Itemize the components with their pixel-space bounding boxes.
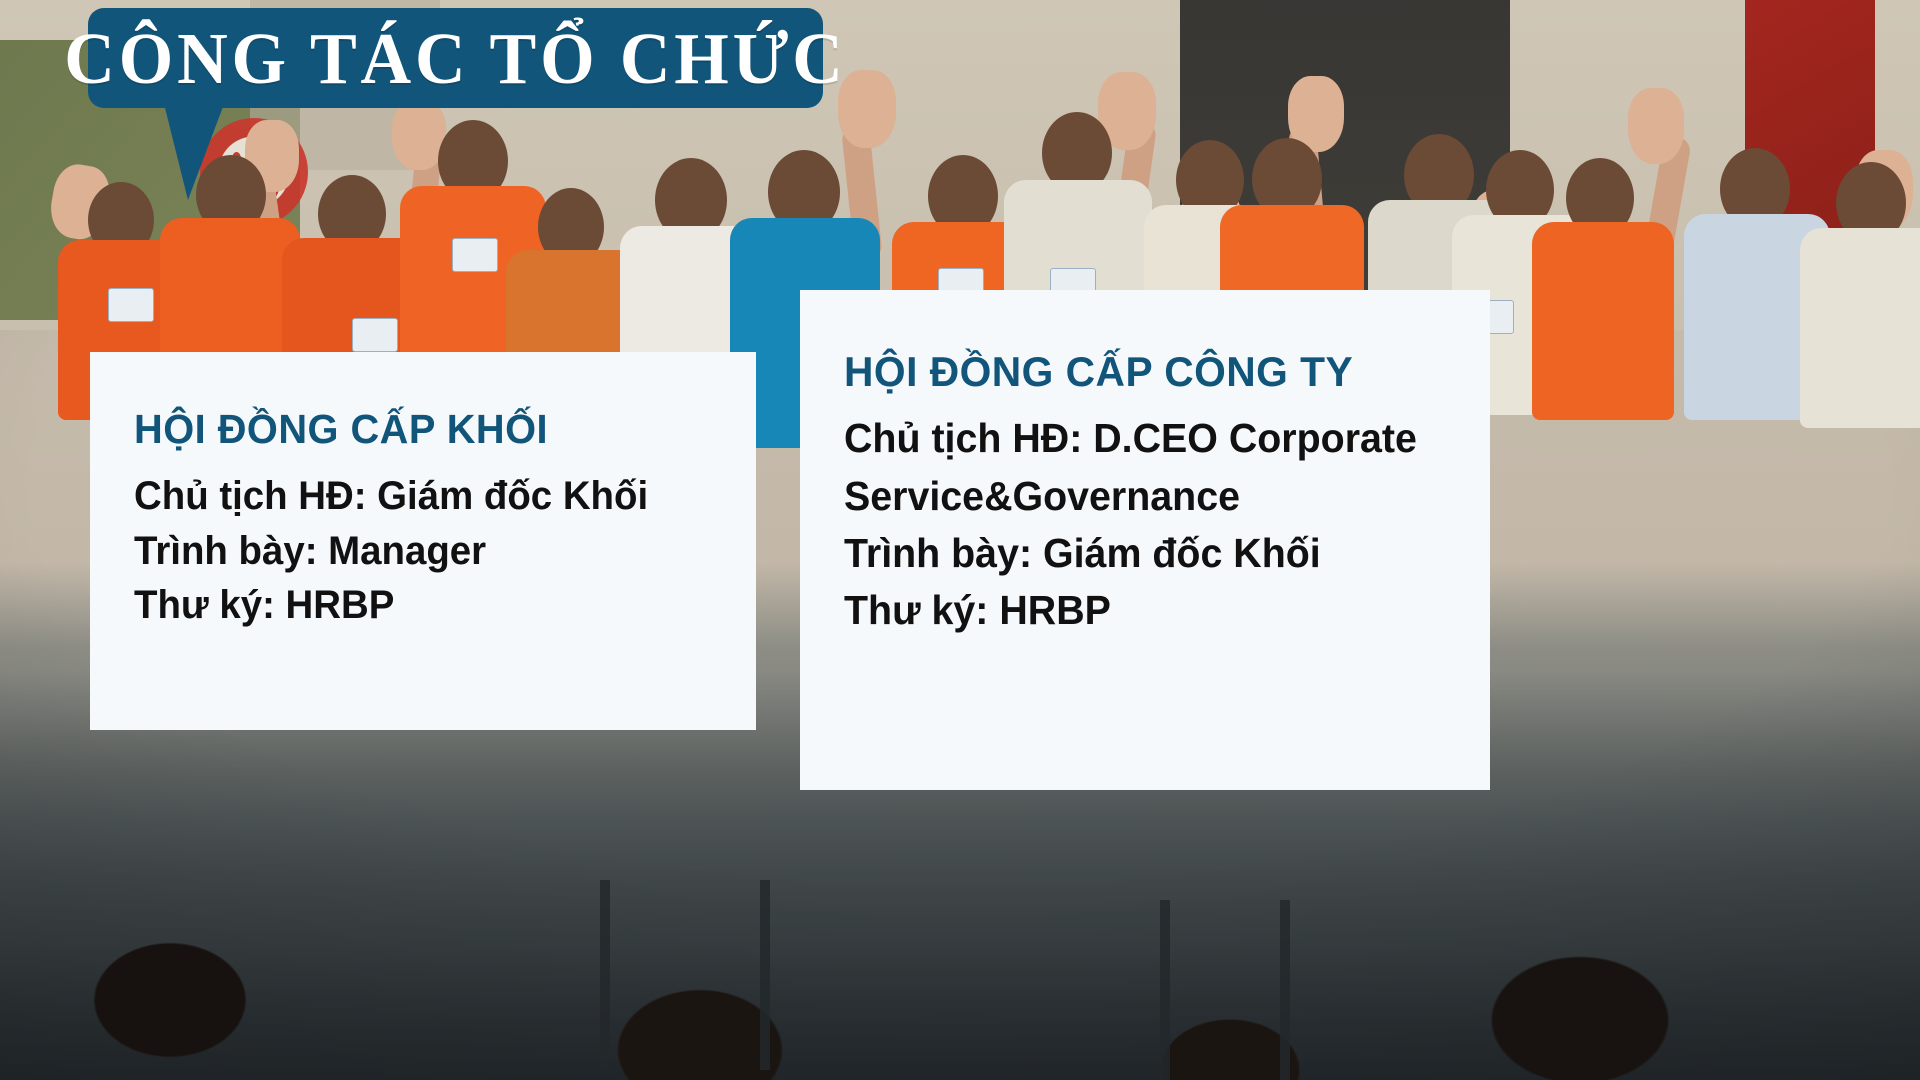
card-hoi-dong-cap-khoi: HỘI ĐỒNG CẤP KHỐI Chủ tịch HĐ: Giám đốc … <box>90 352 756 730</box>
photo-id-badge <box>452 238 498 272</box>
card-line-secretary: Thư ký: HRBP <box>134 578 731 632</box>
card-line-presenter: Trình bày: Giám đốc Khối <box>844 525 1464 582</box>
page-title: CÔNG TÁC TỔ CHỨC <box>103 8 809 108</box>
photo-foreground-audience <box>0 750 1920 1080</box>
photo-hand <box>1628 88 1684 164</box>
photo-chair <box>760 880 770 1070</box>
photo-chair <box>1160 900 1170 1080</box>
card-heading: HỘI ĐỒNG CẤP KHỐI <box>134 406 737 453</box>
card-hoi-dong-cap-cong-ty: HỘI ĐỒNG CẤP CÔNG TY Chủ tịch HĐ: D.CEO … <box>800 290 1490 790</box>
card-line-chairman: Chủ tịch HĐ: D.CEO Corporate <box>844 410 1464 467</box>
slide-canvas: CÔNG TÁC TỔ CHỨC HỘI ĐỒNG CẤP KHỐI Chủ t… <box>0 0 1920 1080</box>
photo-person-shirt <box>1800 228 1920 428</box>
title-banner: CÔNG TÁC TỔ CHỨC <box>88 8 823 108</box>
photo-person-shirt <box>1532 222 1674 420</box>
card-heading: HỘI ĐỒNG CẤP CÔNG TY <box>844 348 1471 396</box>
photo-chair <box>600 880 610 1070</box>
card-line-presenter: Trình bày: Manager <box>134 524 731 578</box>
card-line-chairman-cont: Service&Governance <box>844 468 1464 525</box>
photo-id-badge <box>352 318 398 352</box>
photo-id-badge <box>108 288 154 322</box>
photo-chair <box>1280 900 1290 1080</box>
card-line-chairman: Chủ tịch HĐ: Giám đốc Khối <box>134 469 731 523</box>
card-line-secretary: Thư ký: HRBP <box>844 582 1464 639</box>
